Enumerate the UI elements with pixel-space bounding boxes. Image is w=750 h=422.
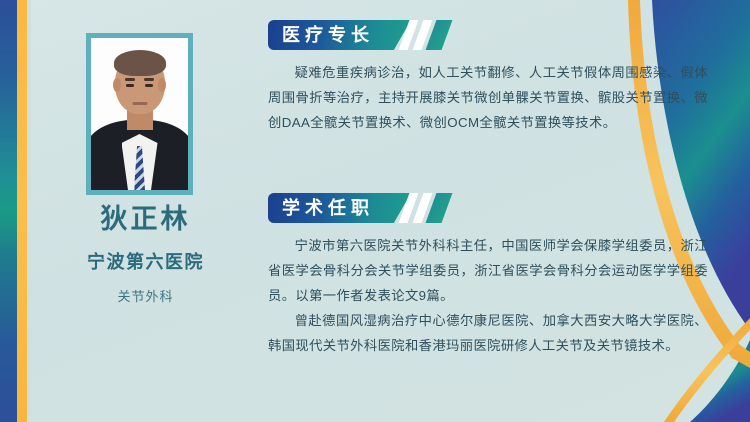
doctor-portrait-photo bbox=[91, 38, 188, 190]
portrait-eye-right bbox=[145, 84, 153, 87]
left-blue-accent-bar bbox=[0, 0, 17, 422]
doctor-profile-poster: 狄正林 宁波第六医院 关节外科 医疗专长 疑难危重疾病诊治，如人工关节翻修、人工… bbox=[0, 0, 750, 422]
paragraph-medical-specialty: 疑难危重疾病诊治，如人工关节翻修、人工关节假体周围感染、假体周围骨折等治疗，主持… bbox=[268, 60, 708, 135]
doctor-department: 关节外科 bbox=[31, 286, 260, 305]
doctor-name: 狄正林 bbox=[31, 205, 260, 235]
doctor-portrait-frame bbox=[86, 33, 193, 195]
section-title-academic-position: 学术任职 bbox=[282, 193, 374, 223]
section-banner-academic-position: 学术任职 bbox=[268, 193, 453, 223]
section-banner-medical-specialty: 医疗专长 bbox=[268, 20, 453, 50]
paragraph-academic-position-1: 宁波市第六医院关节外科科主任，中国医师学会保膝学组委员，浙江省医学会骨科分会关节… bbox=[268, 233, 708, 308]
section-academic-position: 学术任职 宁波市第六医院关节外科科主任，中国医师学会保膝学组委员，浙江省医学会骨… bbox=[268, 193, 720, 358]
portrait-mouth bbox=[132, 102, 147, 105]
left-orange-accent-bar bbox=[17, 0, 27, 422]
portrait-eyebrow-left bbox=[125, 78, 135, 81]
paragraph-academic-position-2: 曾赴德国风湿病治疗中心德尔康尼医院、加拿大西安大略大学医院、韩国现代关节外科医院… bbox=[268, 308, 708, 358]
portrait-ear-right bbox=[158, 78, 166, 92]
doctor-identity-block: 狄正林 宁波第六医院 关节外科 bbox=[31, 205, 260, 305]
section-medical-specialty: 医疗专长 疑难危重疾病诊治，如人工关节翻修、人工关节假体周围感染、假体周围骨折等… bbox=[268, 20, 720, 135]
doctor-hospital: 宁波第六医院 bbox=[31, 248, 260, 274]
portrait-eye-left bbox=[126, 84, 134, 87]
portrait-ear-left bbox=[113, 78, 121, 92]
portrait-hair bbox=[114, 50, 166, 76]
portrait-eyebrow-right bbox=[144, 78, 154, 81]
section-title-medical-specialty: 医疗专长 bbox=[282, 20, 374, 50]
